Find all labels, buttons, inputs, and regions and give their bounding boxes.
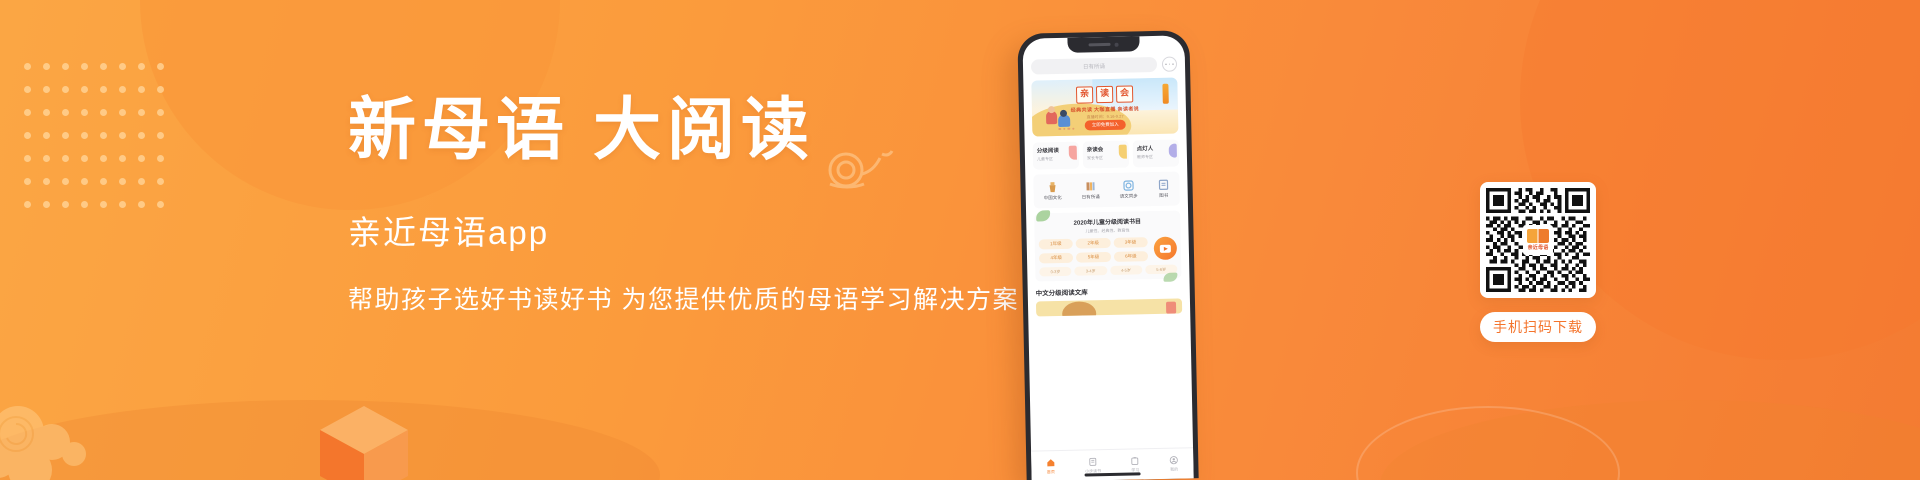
phone-screen: 日有所诵 亲 读 会 经典共读 大咖直播 亲读 xyxy=(1022,35,1193,480)
quick-icon-chinese-culture[interactable]: 中国文化 xyxy=(1043,181,1061,201)
quick-icon-books[interactable]: 图书 xyxy=(1157,179,1169,199)
tab-reading[interactable]: 小步读书 xyxy=(1085,457,1101,474)
promo-banner: 新母语 大阅读 亲近母语app 帮助孩子选好书读好书 为您提供优质的母语学习解决… xyxy=(0,0,1920,480)
quick-icon-label: 语文同步 xyxy=(1120,193,1138,199)
card-parent-club[interactable]: 亲读会 家长专区 xyxy=(1083,141,1130,169)
grade-chip[interactable]: 4年级 xyxy=(1039,253,1074,264)
age-chip[interactable]: 4-5岁 xyxy=(1110,265,1142,275)
qr-center-logo: 亲近母语 xyxy=(1523,225,1553,255)
hero-join-button[interactable]: 立即免费加入 xyxy=(1085,120,1126,131)
booklist-title: 2020年儿童分级阅读书目 xyxy=(1038,216,1176,228)
quick-icon-label: 中国文化 xyxy=(1044,195,1062,201)
library-book-decor xyxy=(1166,302,1176,314)
cloud-swirl-icon xyxy=(0,398,120,480)
hero-title-char-1: 亲 xyxy=(1076,86,1093,103)
tab-label: 首页 xyxy=(1047,469,1055,475)
booklist-subtitle: 儿童性、经典性、教育性 xyxy=(1038,227,1176,236)
card-teacher-zone[interactable]: 点灯人 教师专区 xyxy=(1133,139,1180,167)
vase-icon xyxy=(1046,181,1058,193)
tab-profile[interactable]: 我的 xyxy=(1169,455,1178,472)
hero-title: 亲 读 会 xyxy=(1076,85,1133,103)
app-hero-banner[interactable]: 亲 读 会 经典共读 大咖直播 亲读者说 直播时间：9.16-9.27 立即免费… xyxy=(1031,78,1178,137)
home-icon xyxy=(1046,458,1055,467)
grade-chip[interactable]: 3年级 xyxy=(1113,237,1148,248)
sync-icon xyxy=(1122,179,1134,191)
tab-label: 我的 xyxy=(1170,466,1178,472)
quick-icon-textbook-sync[interactable]: 语文同步 xyxy=(1119,179,1137,199)
clipboard-icon xyxy=(1131,456,1140,465)
grade-chip[interactable]: 5年级 xyxy=(1076,252,1111,263)
app-category-cards: 分级阅读 儿童专区 亲读会 家长专区 点灯人 教师专区 xyxy=(1033,139,1180,169)
hero-title-char-3: 会 xyxy=(1116,85,1133,102)
bookmark-icon xyxy=(1169,144,1177,158)
bookmark-icon xyxy=(1119,145,1127,159)
grade-chip[interactable]: 1年级 xyxy=(1039,239,1074,250)
decor-dot-grid xyxy=(24,63,176,224)
hero-subtitle: 经典共读 大咖直播 亲读者说 xyxy=(1071,105,1140,113)
banner-tagline: 帮助孩子选好书读好书 为您提供优质的母语学习解决方案 xyxy=(348,280,998,316)
tab-home[interactable]: 首页 xyxy=(1046,458,1055,475)
book-logo-icon xyxy=(1527,229,1549,243)
grade-chip[interactable]: 6年级 xyxy=(1114,251,1149,262)
grade-chip[interactable]: 2年级 xyxy=(1076,238,1111,249)
bookmark-icon xyxy=(1069,146,1077,160)
booklist-ages-row: 0-3岁 3-4岁 4-5岁 5-6岁 xyxy=(1039,265,1177,277)
tab-study[interactable]: 学习 xyxy=(1131,456,1140,473)
leaf-decor-icon xyxy=(1163,273,1177,282)
age-chip[interactable]: 3-4岁 xyxy=(1074,266,1106,276)
decor-cube xyxy=(318,404,410,480)
app-booklist-panel: 2020年儿童分级阅读书目 儿童性、经典性、教育性 1年级 2年级 3年级 4年… xyxy=(1034,210,1181,281)
booklist-grades-row-1: 1年级 2年级 3年级 xyxy=(1039,237,1177,250)
age-chip[interactable]: 0-3岁 xyxy=(1039,267,1071,277)
page-title: 新母语 大阅读 xyxy=(348,96,998,164)
user-icon xyxy=(1169,455,1178,464)
book-stack-icon xyxy=(1084,180,1096,192)
qr-logo-text: 亲近母语 xyxy=(1528,244,1549,251)
card-graded-reading[interactable]: 分级阅读 儿童专区 xyxy=(1033,142,1080,170)
library-section-title: 中文分级阅读文库 xyxy=(1036,284,1182,297)
books-icon xyxy=(1157,179,1169,191)
phone-notch xyxy=(1067,36,1139,53)
app-quick-icons: 中国文化 日有所诵 语文同步 xyxy=(1033,171,1180,208)
phone-mockup: 日有所诵 亲 读 会 经典共读 大咖直播 亲读 xyxy=(1017,30,1198,480)
banner-copy: 新母语 大阅读 亲近母语app 帮助孩子选好书读好书 为您提供优质的母语学习解决… xyxy=(348,96,998,316)
speaker-icon xyxy=(1089,43,1111,46)
scan-download-button[interactable]: 手机扫码下载 xyxy=(1480,312,1596,342)
hero-carousel-dots[interactable] xyxy=(1058,127,1074,130)
camera-icon xyxy=(1115,42,1119,46)
reading-icon xyxy=(1088,457,1097,466)
search-input[interactable]: 日有所诵 xyxy=(1031,57,1157,75)
app-search-row: 日有所诵 xyxy=(1031,57,1177,75)
quick-icon-daily-recite[interactable]: 日有所诵 xyxy=(1081,180,1099,200)
hero-title-char-2: 读 xyxy=(1096,86,1113,103)
quick-icon-label: 图书 xyxy=(1159,193,1168,199)
qr-code[interactable]: 亲近母语 xyxy=(1480,182,1596,298)
more-options-icon[interactable] xyxy=(1162,57,1177,72)
quick-icon-label: 日有所诵 xyxy=(1082,194,1100,200)
banner-subtitle: 亲近母语app xyxy=(348,206,998,254)
booklist-grades-row-2: 4年级 5年级 6年级 xyxy=(1039,251,1177,264)
hero-flag-decor xyxy=(1162,84,1168,104)
qr-download-group: 亲近母语 手机扫码下载 xyxy=(1480,182,1596,342)
library-arc-decor xyxy=(1062,301,1096,316)
library-preview-strip[interactable] xyxy=(1036,298,1182,316)
